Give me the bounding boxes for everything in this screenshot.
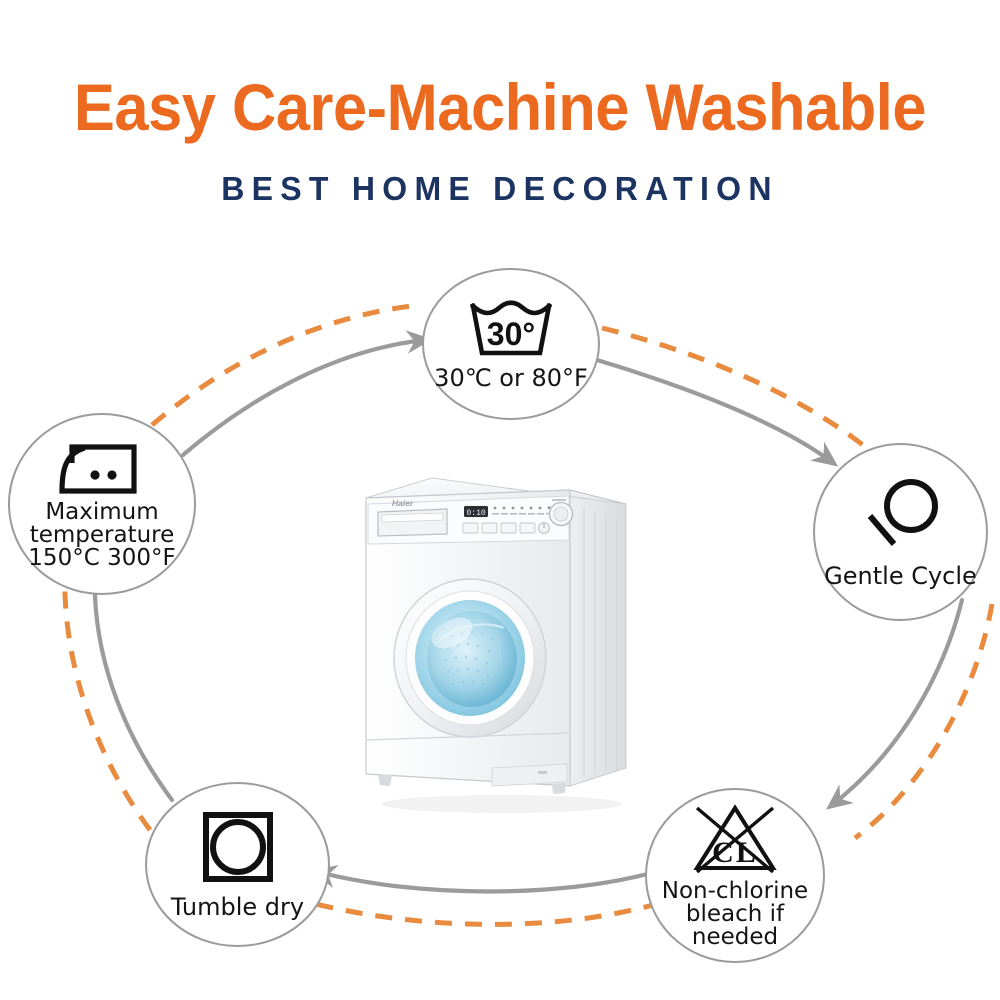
gentle-cycle-icon [858, 476, 944, 554]
dashed-arc-gentle-bleach [855, 604, 992, 838]
dashed-arc-wash-gentle [602, 328, 868, 449]
arrow-iron-to-wash [183, 340, 425, 455]
dashed-arc-iron-wash [152, 305, 420, 425]
arrow-bleach-to-tumble [318, 872, 655, 892]
washer-display-value: 0:10 [467, 509, 486, 518]
node-iron-temperature[interactable]: Maximum temperature 150°C 300°F [8, 413, 196, 595]
node-tumble-dry[interactable]: Tumble dry [145, 782, 330, 947]
node-bleach-label: Non-chlorine bleach if needed [662, 880, 808, 949]
washer-side-panel [570, 490, 626, 786]
wash-tub-30-icon: 30° [465, 298, 557, 360]
washer-foot-left [378, 774, 392, 786]
arrow-tumble-to-iron [95, 572, 172, 800]
non-chlorine-bleach-icon: CL [687, 802, 783, 878]
wash-tub-temp-text: 30° [487, 316, 535, 352]
node-non-chlorine-bleach[interactable]: CL Non-chlorine bleach if needed [645, 788, 825, 963]
arrow-wash-to-gentle [597, 360, 832, 462]
washer-foot-right [552, 783, 566, 794]
node-wash-label: 30℃ or 80°F [434, 366, 588, 390]
tumble-dry-icon [200, 809, 276, 885]
washer-indicator-labels [492, 513, 553, 515]
node-wash-temperature[interactable]: 30° 30℃ or 80°F [422, 268, 600, 420]
iron-dot-2 [107, 470, 116, 479]
iron-dot-1 [90, 470, 99, 479]
node-gentle-cycle[interactable]: Gentle Cycle [813, 443, 988, 621]
iron-two-dots-icon [52, 439, 152, 499]
infographic-canvas: Easy Care-Machine Washable BEST HOME DEC… [0, 0, 1000, 1000]
washer-kick-panel [492, 764, 567, 786]
arrow-gentle-to-bleach [832, 600, 962, 805]
washer-model-text [552, 499, 566, 501]
washing-machine-image: Haier 0:10 [352, 468, 642, 818]
node-gentle-label: Gentle Cycle [824, 564, 977, 588]
node-iron-label: Maximum temperature 150°C 300°F [28, 501, 175, 570]
node-tumble-label: Tumble dry [171, 895, 304, 919]
brand-logo: Haier [392, 498, 414, 508]
dashed-arc-bleach-tumble [300, 900, 660, 924]
dashed-arc-tumble-iron [65, 570, 150, 830]
